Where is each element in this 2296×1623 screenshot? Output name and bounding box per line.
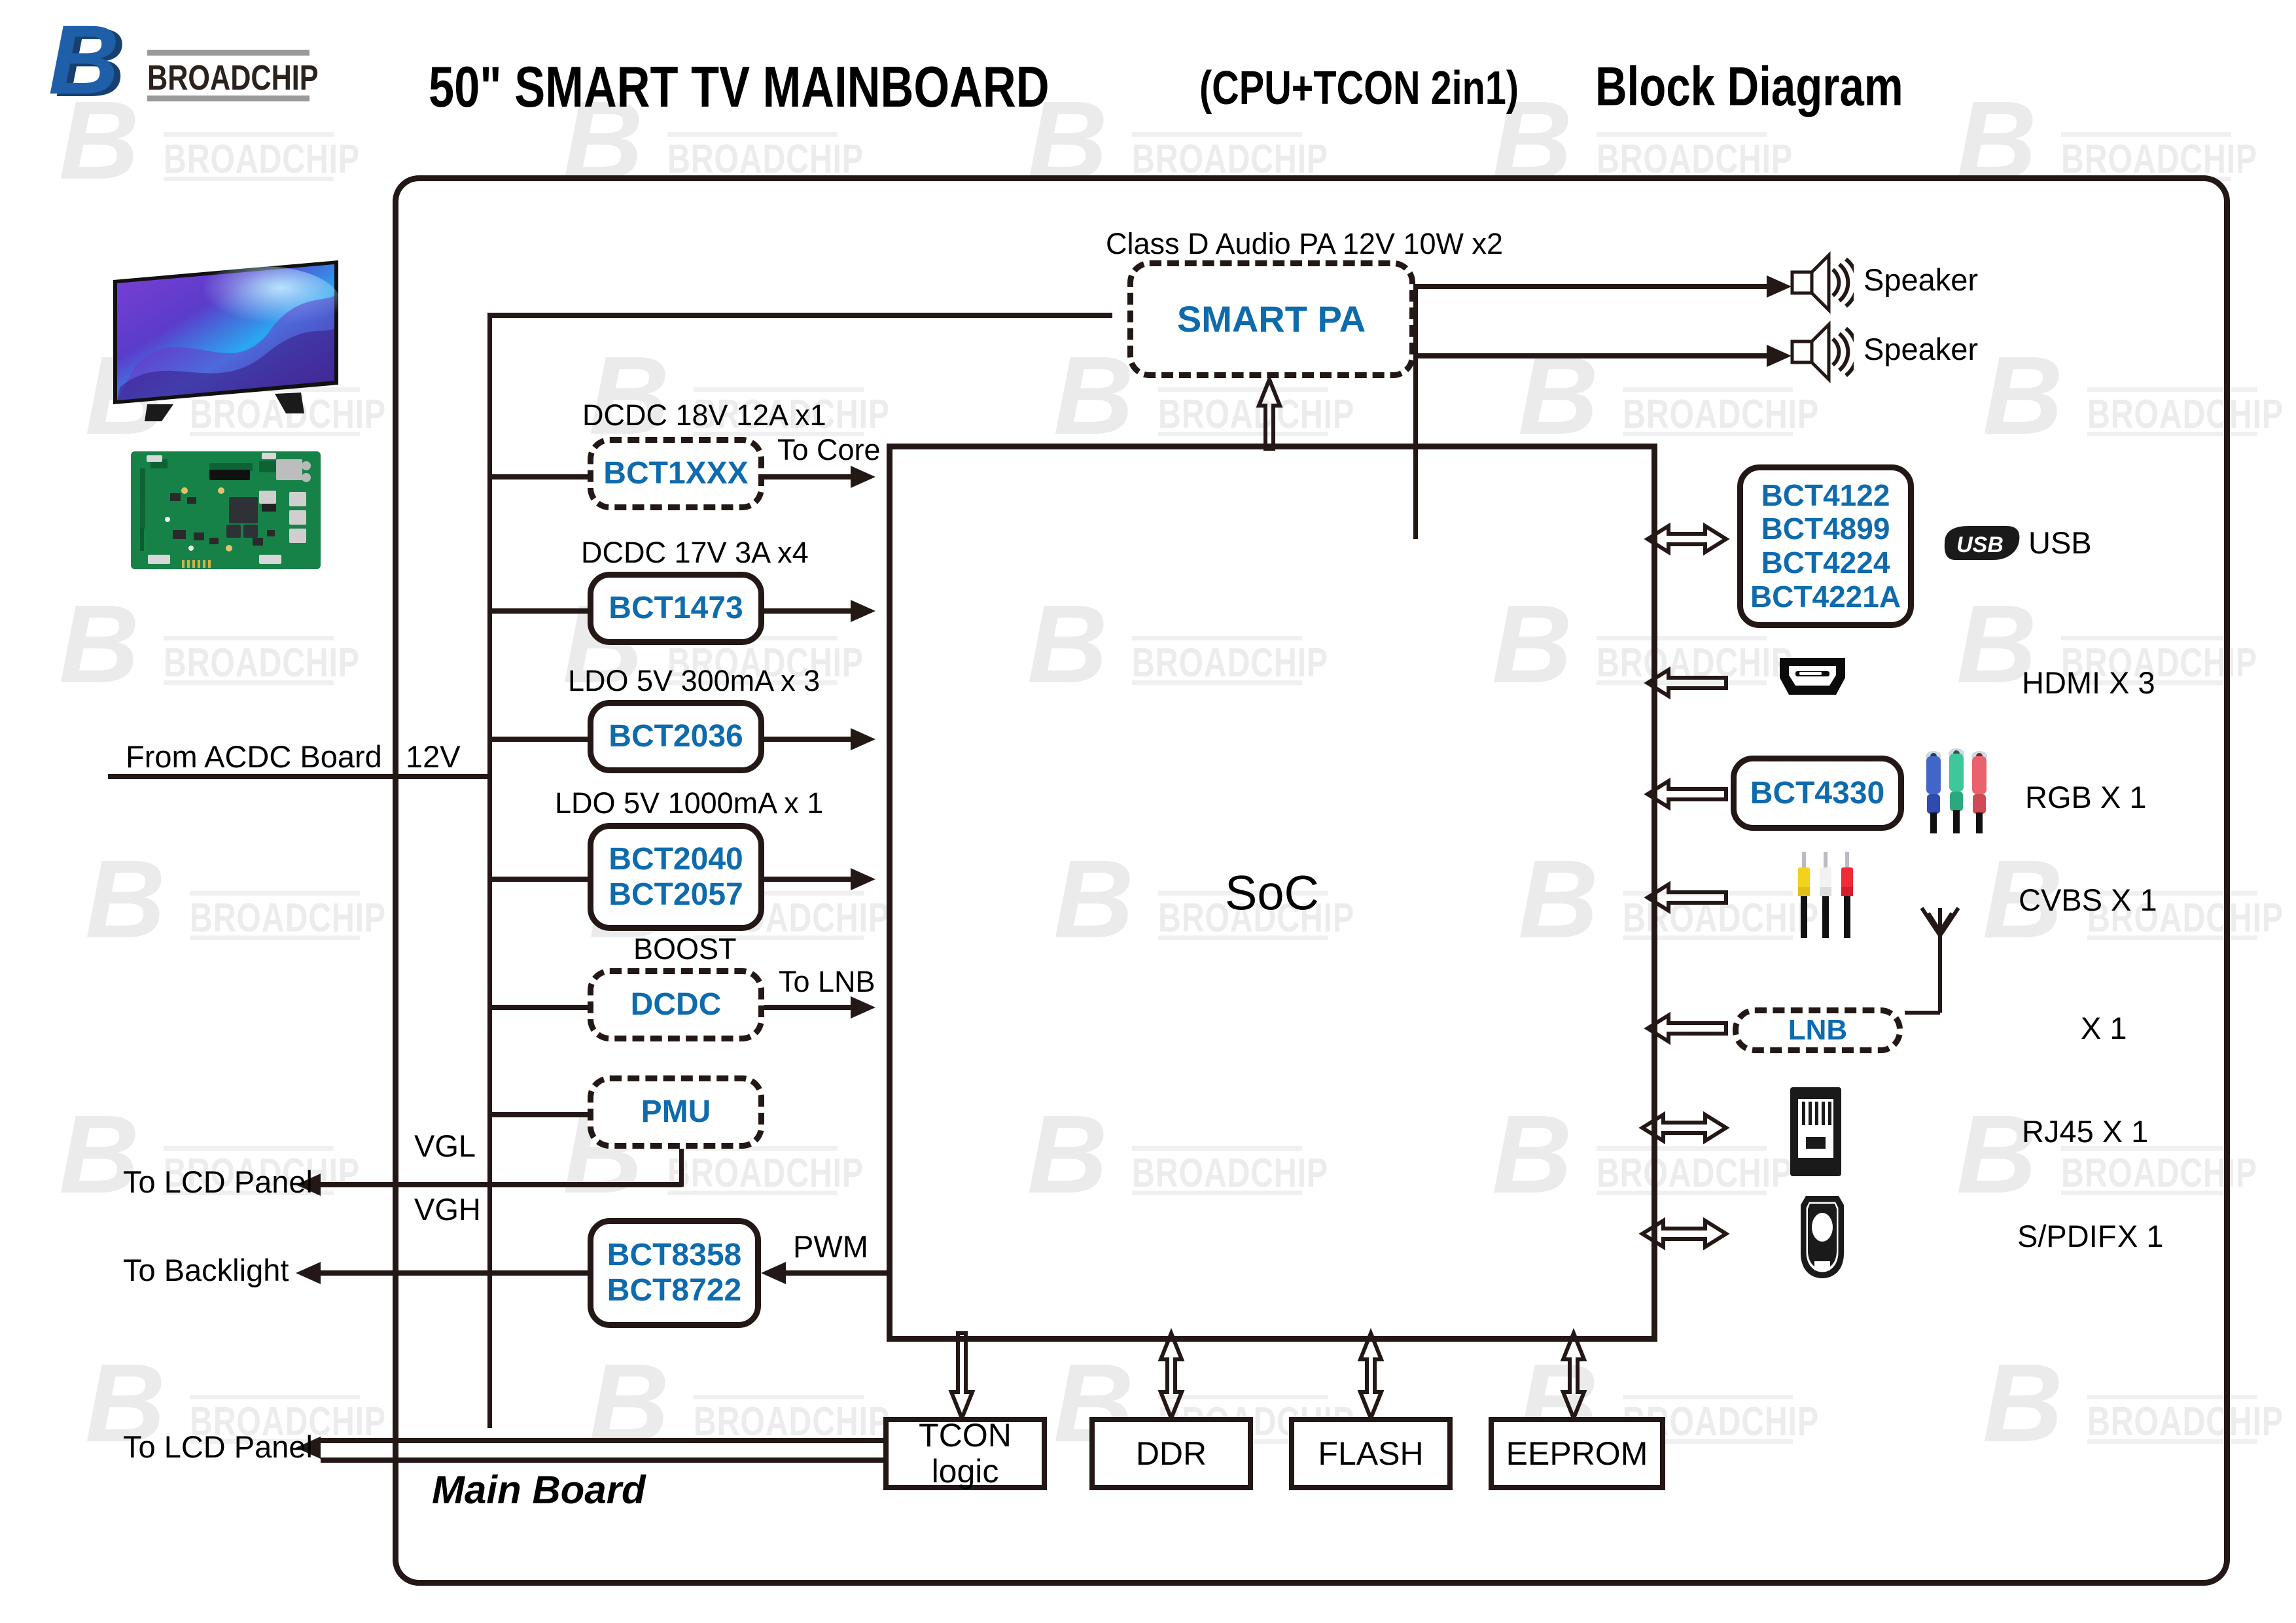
speaker-label-1: Speaker bbox=[1863, 334, 1978, 364]
rail-in-wire-1 bbox=[487, 608, 592, 614]
pa-out-bus bbox=[1413, 284, 1418, 539]
memory-block-3[interactable]: EEPROM bbox=[1489, 1417, 1665, 1490]
lnb-part-0: LNB bbox=[1788, 1014, 1847, 1046]
rail-12v-label: 12V bbox=[406, 741, 461, 772]
backlight-out-wire bbox=[321, 1270, 589, 1276]
rail-out-arrow-3 bbox=[851, 868, 875, 890]
rail-block-2[interactable]: BCT2036 bbox=[588, 700, 764, 773]
usb-icon: USB bbox=[1937, 523, 2021, 563]
antenna-icon bbox=[1894, 903, 1986, 1040]
rca-rgb-icon bbox=[1920, 746, 1992, 837]
rail-caption-2: LDO 5V 300mA x 3 bbox=[568, 666, 820, 695]
acdc-input-wire bbox=[108, 774, 491, 779]
rail-out-label-4: To LNB bbox=[779, 967, 875, 996]
rail-block-4[interactable]: DCDC bbox=[588, 968, 764, 1041]
rj45-label: RJ45 X 1 bbox=[2022, 1116, 2148, 1147]
rail-block-3[interactable]: BCT2040 BCT2057 bbox=[588, 823, 764, 931]
main-board-label: Main Board bbox=[432, 1471, 646, 1510]
watermark-rule-top bbox=[667, 132, 838, 137]
memory-label-3: EEPROM bbox=[1506, 1436, 1648, 1472]
lnb-block[interactable]: LNB bbox=[1733, 1007, 1903, 1053]
ddr-bidir-arrow bbox=[1158, 1333, 1184, 1418]
backlight-out-arrow bbox=[296, 1262, 321, 1284]
watermark-rule-top bbox=[190, 891, 360, 896]
hdmi-in-arrow bbox=[1648, 667, 1726, 699]
usb-part-2: BCT4224 bbox=[1761, 546, 1890, 580]
rail-block-5[interactable]: PMU bbox=[588, 1075, 764, 1149]
pmu-out-drop bbox=[679, 1149, 684, 1187]
signal-vgl: VGL bbox=[414, 1130, 476, 1161]
rail-part-3-1: BCT2057 bbox=[609, 877, 743, 913]
rj45-icon bbox=[1786, 1085, 1845, 1179]
speaker-icon-0 bbox=[1788, 250, 1854, 315]
rail-block-0[interactable]: BCT1XXX bbox=[588, 437, 764, 510]
rail-part-5-0: PMU bbox=[641, 1094, 711, 1130]
speaker-icon-1 bbox=[1788, 319, 1854, 385]
watermark-tile: BBROADCHIP bbox=[85, 844, 393, 968]
rail-out-arrow-2 bbox=[851, 728, 875, 750]
cvbs-in-arrow bbox=[1648, 882, 1726, 913]
panel-output-label-1: To Backlight bbox=[123, 1255, 289, 1285]
panel-output-label-2: To LCD Panel bbox=[123, 1431, 313, 1462]
watermark-wordmark: BROADCHIP bbox=[190, 895, 386, 941]
rail-caption-0: DCDC 18V 12A x1 bbox=[582, 400, 826, 430]
brand-logo: B B BROADCHIP bbox=[46, 18, 353, 103]
watermark-rule-bottom bbox=[190, 432, 360, 436]
rail-caption-4: BOOST bbox=[633, 934, 737, 964]
hdmi-label: HDMI X 3 bbox=[2022, 667, 2155, 698]
hdmi-icon bbox=[1773, 654, 1852, 707]
watermark-wordmark: BROADCHIP bbox=[164, 640, 360, 686]
rgb-label: RGB X 1 bbox=[2025, 782, 2146, 812]
memory-block-1[interactable]: DDR bbox=[1089, 1417, 1253, 1490]
audio-caption: Class D Audio PA 12V 10W x2 bbox=[1106, 229, 1503, 258]
smart-tv-photo bbox=[108, 256, 353, 432]
rail-part-4-0: DCDC bbox=[631, 987, 722, 1022]
rail-in-wire-4 bbox=[487, 1005, 592, 1010]
usb-part-0: BCT4122 bbox=[1761, 479, 1890, 513]
logo-rule-bottom bbox=[147, 96, 309, 101]
smartpa-power-wire bbox=[487, 313, 1112, 318]
acdc-source-label: From ACDC Board bbox=[126, 741, 382, 772]
rail-caption-3: LDO 5V 1000mA x 1 bbox=[555, 788, 823, 818]
tcon-panel-wire-b bbox=[321, 1457, 883, 1463]
rail-part-1-0: BCT1473 bbox=[609, 591, 743, 626]
lnb-in-arrow bbox=[1648, 1013, 1726, 1044]
speaker-wire-1 bbox=[1413, 353, 1780, 358]
rail-part-3-0: BCT2040 bbox=[609, 842, 743, 877]
cvbs-label: CVBS X 1 bbox=[2019, 884, 2157, 915]
rail-block-1[interactable]: BCT1473 bbox=[588, 572, 764, 645]
page-title-tail: Block Diagram bbox=[1595, 55, 1903, 118]
rail-part-0-0: BCT1XXX bbox=[603, 456, 748, 491]
rail-in-wire-3 bbox=[487, 877, 592, 882]
logo-wordmark: BROADCHIP bbox=[147, 58, 319, 98]
memory-block-2[interactable]: FLASH bbox=[1289, 1417, 1453, 1490]
usb-phy-block[interactable]: BCT4122 BCT4899 BCT4224 BCT4221A bbox=[1737, 464, 1914, 628]
watermark-rule-bottom bbox=[190, 935, 360, 940]
speaker-label-0: Speaker bbox=[1863, 264, 1978, 295]
rgb-part-0: BCT4330 bbox=[1750, 776, 1884, 811]
watermark-rule-bottom bbox=[164, 177, 334, 181]
backlight-driver-block[interactable]: BCT8358 BCT8722 bbox=[588, 1218, 761, 1328]
usb-label: USB bbox=[2028, 527, 2092, 558]
memory-label-1: DDR bbox=[1136, 1436, 1207, 1472]
spdif-bidir-arrow bbox=[1642, 1218, 1726, 1249]
page-title-main: 50" SMART TV MAINBOARD bbox=[429, 54, 1050, 120]
soc-block[interactable]: SoC bbox=[887, 444, 1657, 1342]
eeprom-bidir-arrow bbox=[1561, 1333, 1587, 1418]
spdif-label: S/PDIF bbox=[2017, 1221, 2116, 1251]
tcon-panel-wire-a bbox=[321, 1438, 883, 1443]
rail-out-arrow-1 bbox=[851, 600, 875, 622]
rail-caption-1: DCDC 17V 3A x4 bbox=[581, 538, 809, 567]
panel-output-label-0: To LCD Panel bbox=[123, 1166, 313, 1197]
soc-to-pa-arrow bbox=[1256, 379, 1282, 449]
lnb-label: X 1 bbox=[2081, 1013, 2127, 1043]
spdif-count: X 1 bbox=[2117, 1221, 2164, 1251]
rail-out-label-0: To Core bbox=[777, 435, 881, 464]
logo-letter: B bbox=[48, 10, 114, 109]
page-title-paren: (CPU+TCON 2in1) bbox=[1199, 61, 1519, 115]
rail-out-arrow-0 bbox=[851, 466, 875, 488]
rgb-driver-block[interactable]: BCT4330 bbox=[1731, 756, 1904, 831]
mainboard-pcb-photo bbox=[131, 451, 321, 569]
memory-label-2: FLASH bbox=[1318, 1436, 1423, 1472]
usb-part-3: BCT4221A bbox=[1750, 580, 1901, 614]
smart-pa-block[interactable]: SMART PA bbox=[1127, 260, 1415, 378]
watermark-logo-letter: B bbox=[59, 589, 139, 700]
svg-text:USB: USB bbox=[1956, 532, 2004, 557]
tcon-down-arrow bbox=[949, 1333, 975, 1418]
rail-out-arrow-4 bbox=[851, 996, 875, 1019]
pwm-wire bbox=[785, 1270, 887, 1276]
watermark-rule-bottom bbox=[164, 680, 334, 685]
watermark-rule-top bbox=[164, 132, 334, 137]
watermark-rule-top bbox=[164, 636, 334, 640]
pwm-arrow bbox=[761, 1262, 786, 1284]
watermark-rule-top bbox=[1597, 132, 1767, 137]
usb-part-1: BCT4899 bbox=[1761, 512, 1890, 546]
page-title: 50" SMART TV MAINBOARD (CPU+TCON 2in1) B… bbox=[429, 54, 1980, 113]
smart-pa-label: SMART PA bbox=[1177, 299, 1366, 340]
speaker-wire-0 bbox=[1413, 284, 1780, 289]
usb-bidir-arrow bbox=[1648, 523, 1726, 555]
watermark-logo-letter: B bbox=[85, 844, 166, 955]
flash-bidir-arrow bbox=[1358, 1333, 1384, 1418]
pwm-label: PWM bbox=[793, 1231, 868, 1262]
rail-part-2-0: BCT2036 bbox=[609, 719, 743, 754]
watermark-wordmark: BROADCHIP bbox=[164, 136, 360, 183]
memory-label-0: TCON logic bbox=[889, 1418, 1042, 1490]
pmu-vgl-wire bbox=[321, 1182, 682, 1187]
rca-av-icon bbox=[1793, 850, 1858, 942]
watermark-rule-top bbox=[2061, 132, 2231, 137]
watermark-rule-top bbox=[164, 1146, 334, 1151]
watermark-rule-top bbox=[190, 1395, 360, 1399]
soc-label: SoC bbox=[892, 865, 1651, 920]
watermark-rule-top bbox=[1132, 132, 1302, 137]
rgb-in-arrow bbox=[1648, 778, 1726, 810]
watermark-tile: BBROADCHIP bbox=[59, 589, 366, 713]
rail-in-wire-0 bbox=[487, 474, 592, 480]
signal-vgh: VGH bbox=[414, 1194, 481, 1225]
backlight-part-0: BCT8358 bbox=[607, 1238, 741, 1273]
spdif-icon bbox=[1793, 1191, 1852, 1282]
rail-in-wire-5 bbox=[487, 1112, 592, 1117]
backlight-part-1: BCT8722 bbox=[607, 1273, 741, 1308]
watermark-tile: BBROADCHIP bbox=[59, 1099, 366, 1223]
logo-rule-top bbox=[147, 50, 309, 56]
power-bus-vertical bbox=[487, 313, 492, 1428]
memory-block-0[interactable]: TCON logic bbox=[883, 1417, 1047, 1490]
rj45-bidir-arrow bbox=[1642, 1112, 1726, 1143]
rail-in-wire-2 bbox=[487, 737, 592, 742]
